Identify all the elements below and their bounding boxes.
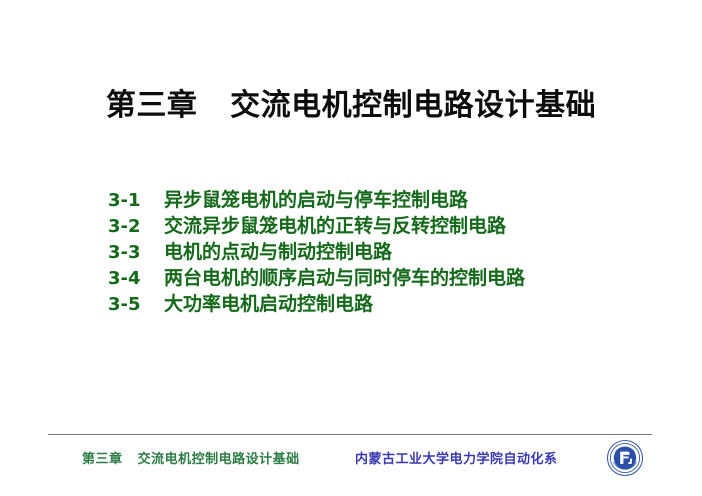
footer-institution-label: 内蒙古工业大学电力学院自动化系 [355, 448, 558, 467]
section-number: 3-1 [108, 190, 164, 211]
section-number: 3-4 [108, 268, 164, 289]
page-title: 第三章 交流电机控制电路设计基础 [0, 86, 702, 126]
section-title: 交流异步鼠笼电机的正转与反转控制电路 [164, 211, 648, 238]
list-item[interactable]: 3-1 异步鼠笼电机的启动与停车控制电路 [108, 185, 648, 211]
footer-divider [48, 434, 652, 435]
section-title: 大功率电机启动控制电路 [164, 289, 648, 316]
presentation-slide: 第三章 交流电机控制电路设计基础 3-1 异步鼠笼电机的启动与停车控制电路 3-… [0, 0, 702, 496]
list-item[interactable]: 3-3 电机的点动与制动控制电路 [108, 237, 648, 263]
list-item[interactable]: 3-5 大功率电机启动控制电路 [108, 289, 648, 315]
footer-chapter-label: 第三章 交流电机控制电路设计基础 [82, 448, 300, 467]
list-item[interactable]: 3-2 交流异步鼠笼电机的正转与反转控制电路 [108, 211, 648, 237]
section-title: 两台电机的顺序启动与同时停车的控制电路 [164, 263, 648, 290]
section-title: 异步鼠笼电机的启动与停车控制电路 [164, 185, 648, 212]
section-number: 3-3 [108, 242, 164, 263]
list-item[interactable]: 3-4 两台电机的顺序启动与同时停车的控制电路 [108, 263, 648, 289]
section-title: 电机的点动与制动控制电路 [164, 237, 648, 264]
university-emblem-icon [606, 439, 644, 477]
section-number: 3-2 [108, 216, 164, 237]
section-number: 3-5 [108, 294, 164, 315]
chapter-section-list: 3-1 异步鼠笼电机的启动与停车控制电路 3-2 交流异步鼠笼电机的正转与反转控… [108, 185, 648, 315]
